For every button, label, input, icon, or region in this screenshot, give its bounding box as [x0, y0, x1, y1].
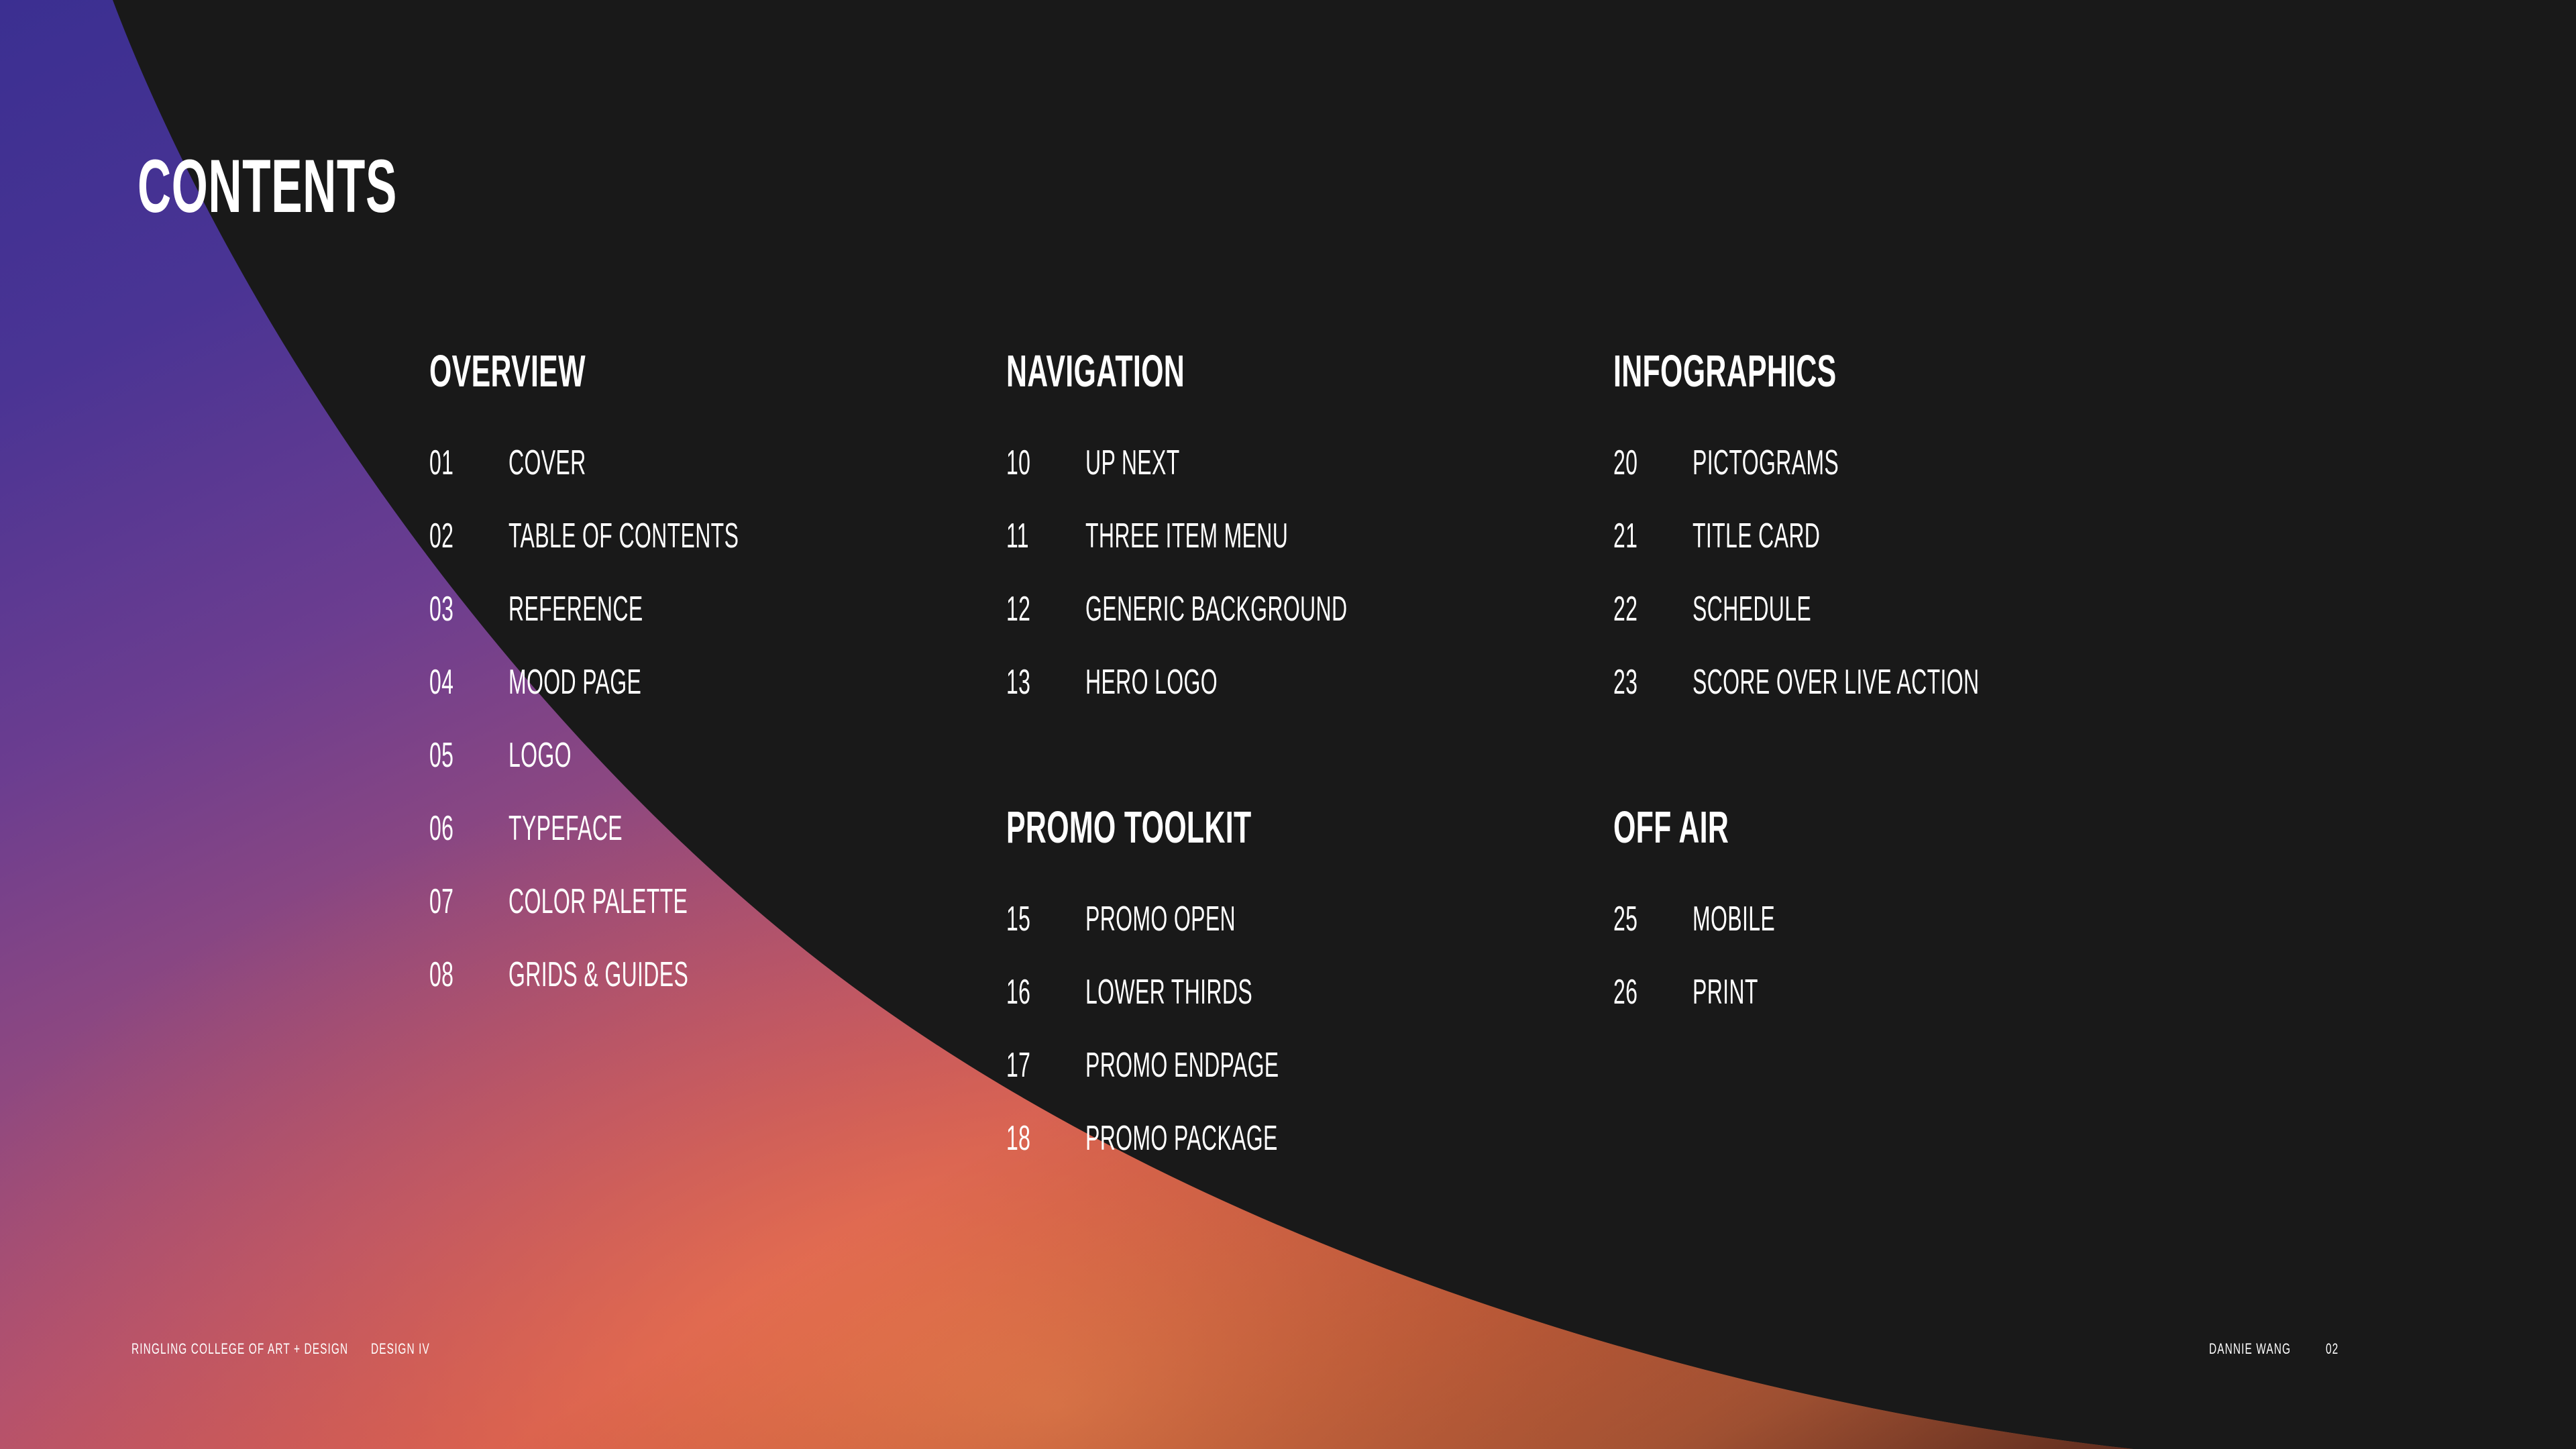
list-item[interactable]: 20PICTOGRAMS — [1613, 445, 2159, 519]
group-promo-toolkit: PROMO TOOLKIT 15PROMO OPEN 16LOWER THIRD… — [1006, 805, 1400, 1194]
list-item[interactable]: 11THREE ITEM MENU — [1006, 519, 1511, 592]
item-label: SCORE OVER LIVE ACTION — [1693, 665, 1980, 700]
item-number: 10 — [1006, 445, 1055, 480]
item-number: 20 — [1613, 445, 1662, 480]
group-title-promo-toolkit: PROMO TOOLKIT — [1006, 805, 1258, 853]
item-label: PROMO OPEN — [1085, 902, 1279, 936]
item-number: 23 — [1613, 665, 1662, 700]
list-item[interactable]: 17PROMO ENDPAGE — [1006, 1048, 1400, 1121]
item-number: 18 — [1006, 1121, 1055, 1156]
list-item[interactable]: 26PRINT — [1613, 975, 1827, 1048]
item-number: 04 — [429, 665, 478, 700]
item-number: 26 — [1613, 975, 1662, 1010]
list-item[interactable]: 25MOBILE — [1613, 902, 1827, 975]
slide-root: CONTENTS OVERVIEW 01COVER 02TABLE OF CON… — [0, 0, 2576, 1449]
item-label: PROMO PACKAGE — [1085, 1121, 1279, 1156]
item-number: 22 — [1613, 592, 1662, 627]
item-number: 08 — [429, 957, 478, 992]
list-item[interactable]: 21TITLE CARD — [1613, 519, 2159, 592]
group-title-off-air: OFF AIR — [1613, 805, 1750, 853]
item-label: PRINT — [1693, 975, 1775, 1010]
item-label: LOGO — [508, 738, 739, 773]
item-label: MOOD PAGE — [508, 665, 739, 700]
item-number: 13 — [1006, 665, 1055, 700]
list-item[interactable]: 06TYPEFACE — [429, 811, 883, 884]
list-item[interactable]: 10UP NEXT — [1006, 445, 1511, 519]
list-item[interactable]: 01COVER — [429, 445, 883, 519]
item-label: COVER — [508, 445, 739, 480]
footer-course: DESIGN IV — [371, 1342, 430, 1356]
list-item[interactable]: 16LOWER THIRDS — [1006, 975, 1400, 1048]
group-title-overview: OVERVIEW — [429, 349, 720, 397]
item-label: GRIDS & GUIDES — [508, 957, 739, 992]
group-title-infographics: INFOGRAPHICS — [1613, 349, 1962, 397]
item-label: LOWER THIRDS — [1085, 975, 1279, 1010]
item-label: COLOR PALETTE — [508, 884, 739, 919]
item-list-off-air: 25MOBILE 26PRINT — [1613, 902, 1827, 1048]
footer: RINGLING COLLEGE OF ART + DESIGN DESIGN … — [0, 1342, 2576, 1368]
list-item[interactable]: 13HERO LOGO — [1006, 665, 1511, 738]
item-number: 05 — [429, 738, 478, 773]
item-list-navigation: 10UP NEXT 11THREE ITEM MENU 12GENERIC BA… — [1006, 445, 1511, 738]
group-overview: OVERVIEW 01COVER 02TABLE OF CONTENTS 03R… — [429, 349, 883, 1030]
item-label: PICTOGRAMS — [1693, 445, 1980, 480]
list-item[interactable]: 03REFERENCE — [429, 592, 883, 665]
group-infographics: INFOGRAPHICS 20PICTOGRAMS 21TITLE CARD 2… — [1613, 349, 2159, 738]
item-label: PROMO ENDPAGE — [1085, 1048, 1279, 1083]
list-item[interactable]: 18PROMO PACKAGE — [1006, 1121, 1400, 1194]
group-off-air: OFF AIR 25MOBILE 26PRINT — [1613, 805, 1827, 1048]
list-item[interactable]: 22SCHEDULE — [1613, 592, 2159, 665]
item-number: 02 — [429, 519, 478, 553]
item-number: 11 — [1006, 519, 1055, 553]
item-number: 21 — [1613, 519, 1662, 553]
list-item[interactable]: 12GENERIC BACKGROUND — [1006, 592, 1511, 665]
item-list-promo-toolkit: 15PROMO OPEN 16LOWER THIRDS 17PROMO ENDP… — [1006, 902, 1400, 1194]
item-label: HERO LOGO — [1085, 665, 1347, 700]
item-number: 03 — [429, 592, 478, 627]
item-label: SCHEDULE — [1693, 592, 1980, 627]
footer-page-number: 02 — [2326, 1342, 2339, 1356]
item-label: TABLE OF CONTENTS — [508, 519, 739, 553]
item-number: 06 — [429, 811, 478, 846]
item-label: GENERIC BACKGROUND — [1085, 592, 1347, 627]
item-label: REFERENCE — [508, 592, 739, 627]
footer-school: RINGLING COLLEGE OF ART + DESIGN — [131, 1342, 348, 1356]
item-label: THREE ITEM MENU — [1085, 519, 1347, 553]
item-number: 01 — [429, 445, 478, 480]
list-item[interactable]: 02TABLE OF CONTENTS — [429, 519, 883, 592]
item-number: 17 — [1006, 1048, 1055, 1083]
item-label: MOBILE — [1693, 902, 1775, 936]
list-item[interactable]: 23SCORE OVER LIVE ACTION — [1613, 665, 2159, 738]
item-list-infographics: 20PICTOGRAMS 21TITLE CARD 22SCHEDULE 23S… — [1613, 445, 2159, 738]
item-number: 16 — [1006, 975, 1055, 1010]
item-number: 07 — [429, 884, 478, 919]
list-item[interactable]: 07COLOR PALETTE — [429, 884, 883, 957]
item-number: 12 — [1006, 592, 1055, 627]
list-item[interactable]: 05LOGO — [429, 738, 883, 811]
list-item[interactable]: 15PROMO OPEN — [1006, 902, 1400, 975]
list-item[interactable]: 04MOOD PAGE — [429, 665, 883, 738]
list-item[interactable]: 08GRIDS & GUIDES — [429, 957, 883, 1030]
item-list-overview: 01COVER 02TABLE OF CONTENTS 03REFERENCE … — [429, 445, 883, 1030]
item-label: UP NEXT — [1085, 445, 1347, 480]
item-label: TITLE CARD — [1693, 519, 1980, 553]
group-title-navigation: NAVIGATION — [1006, 349, 1330, 397]
group-navigation: NAVIGATION 10UP NEXT 11THREE ITEM MENU 1… — [1006, 349, 1511, 738]
item-number: 15 — [1006, 902, 1055, 936]
footer-author: DANNIE WANG — [2209, 1342, 2291, 1356]
contents-columns: OVERVIEW 01COVER 02TABLE OF CONTENTS 03R… — [0, 0, 2576, 1449]
item-number: 25 — [1613, 902, 1662, 936]
item-label: TYPEFACE — [508, 811, 739, 846]
